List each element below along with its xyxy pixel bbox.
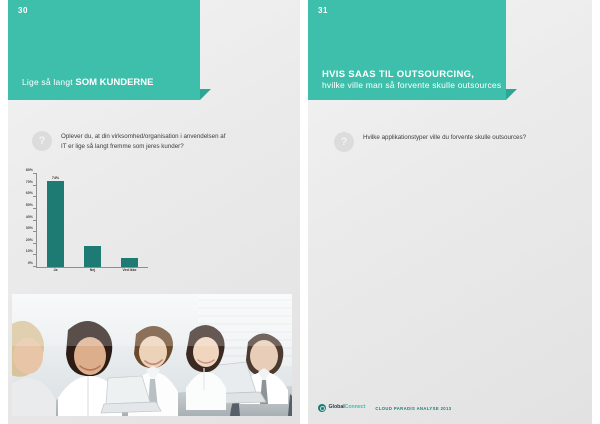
chart-plot-area: 74% JaNejVed ikke 0%10%20%30%40%50%60%70… bbox=[36, 174, 148, 282]
bar bbox=[84, 246, 101, 267]
question-line-1: Hvilke applikationstyper ville du forven… bbox=[363, 133, 526, 143]
question-mark-icon: ? bbox=[32, 131, 52, 151]
logo-text-part2: Connect bbox=[345, 404, 366, 410]
banner-title-right: HVIS SAAS TIL OUTSOURCING, hvilke ville … bbox=[322, 69, 501, 92]
y-axis-tick-label: 20% bbox=[26, 238, 33, 242]
page-right: 31 HVIS SAAS TIL OUTSOURCING, hvilke vil… bbox=[308, 0, 592, 424]
page-footer: GlobalConnect CLOUD PARADIS ANALYSE 2013 bbox=[318, 404, 452, 412]
logo-text: GlobalConnect bbox=[329, 405, 366, 410]
y-axis-tick-label: 70% bbox=[26, 180, 33, 184]
y-axis-tick-label: 80% bbox=[26, 168, 33, 172]
page-left: 30 Lige så langt SOM KUNDERNE ? Oplever … bbox=[8, 0, 300, 424]
bar bbox=[47, 181, 64, 267]
question-mark-icon: ? bbox=[334, 132, 354, 152]
page-banner-right: 31 HVIS SAAS TIL OUTSOURCING, hvilke vil… bbox=[308, 0, 506, 100]
x-axis-label: Ved ikke bbox=[118, 268, 141, 273]
y-axis-tick bbox=[33, 208, 37, 209]
y-axis-tick bbox=[33, 185, 37, 186]
globe-icon bbox=[318, 404, 326, 412]
bar bbox=[121, 258, 138, 267]
question-block-right: ? Hvilke applikationstyper ville du forv… bbox=[334, 132, 574, 152]
banner-fold-corner bbox=[200, 89, 211, 100]
question-block-left: ? Oplever du, at din virksomhed/organisa… bbox=[32, 131, 262, 151]
bar-group: 74% bbox=[37, 174, 148, 267]
y-axis-tick bbox=[33, 231, 37, 232]
globalconnect-logo: GlobalConnect bbox=[318, 404, 365, 412]
banner-title-left: Lige så langt SOM KUNDERNE bbox=[22, 71, 154, 91]
x-axis-label: Nej bbox=[81, 268, 104, 273]
banner-fold-corner bbox=[506, 89, 517, 100]
page-number-right: 31 bbox=[318, 6, 328, 15]
y-axis-tick-label: 40% bbox=[26, 215, 33, 219]
x-axis-labels: JaNejVed ikke bbox=[37, 268, 148, 282]
y-axis-tick bbox=[33, 254, 37, 255]
page-banner-left: 30 Lige så langt SOM KUNDERNE bbox=[8, 0, 200, 100]
y-axis-tick bbox=[33, 220, 37, 221]
question-text-right: Hvilke applikationstyper ville du forven… bbox=[363, 132, 526, 143]
logo-text-part1: Global bbox=[329, 404, 345, 410]
page-number-left: 30 bbox=[18, 6, 28, 15]
chart-left: 74% JaNejVed ikke 0%10%20%30%40%50%60%70… bbox=[36, 174, 148, 282]
y-axis-tick-label: 50% bbox=[26, 203, 33, 207]
team-photo-illustration bbox=[12, 294, 292, 416]
y-axis-tick-label: 60% bbox=[26, 191, 33, 195]
y-axis-tick bbox=[33, 266, 37, 267]
y-axis-tick bbox=[33, 243, 37, 244]
question-line-1: Oplever du, at din virksomhed/organisati… bbox=[61, 132, 225, 142]
bar-column bbox=[84, 174, 101, 267]
banner-title-light: Lige så langt bbox=[22, 77, 75, 87]
x-axis-label: Ja bbox=[44, 268, 67, 273]
y-axis-tick-label: 10% bbox=[26, 249, 33, 253]
banner-title-bold: SOM KUNDERNE bbox=[75, 77, 153, 88]
y-axis-tick-label: 30% bbox=[26, 226, 33, 230]
footer-label: CLOUD PARADIS ANALYSE 2013 bbox=[375, 406, 451, 411]
banner-title-bold: HVIS SAAS TIL OUTSOURCING, bbox=[322, 69, 501, 81]
bar-column: 74% bbox=[47, 174, 64, 267]
y-axis-tick-label: 0% bbox=[28, 261, 33, 265]
document-spread: 30 Lige så langt SOM KUNDERNE ? Oplever … bbox=[0, 0, 600, 424]
question-line-2: IT er lige så langt fremme som jeres kun… bbox=[61, 142, 225, 152]
y-axis-tick bbox=[33, 173, 37, 174]
banner-title-light: hvilke ville man så forvente skulle outs… bbox=[322, 80, 501, 91]
question-text-left: Oplever du, at din virksomhed/organisati… bbox=[61, 131, 225, 151]
team-photo bbox=[12, 294, 292, 416]
bar-value-label: 74% bbox=[52, 176, 59, 180]
y-axis-tick bbox=[33, 196, 37, 197]
bar-column bbox=[121, 174, 138, 267]
